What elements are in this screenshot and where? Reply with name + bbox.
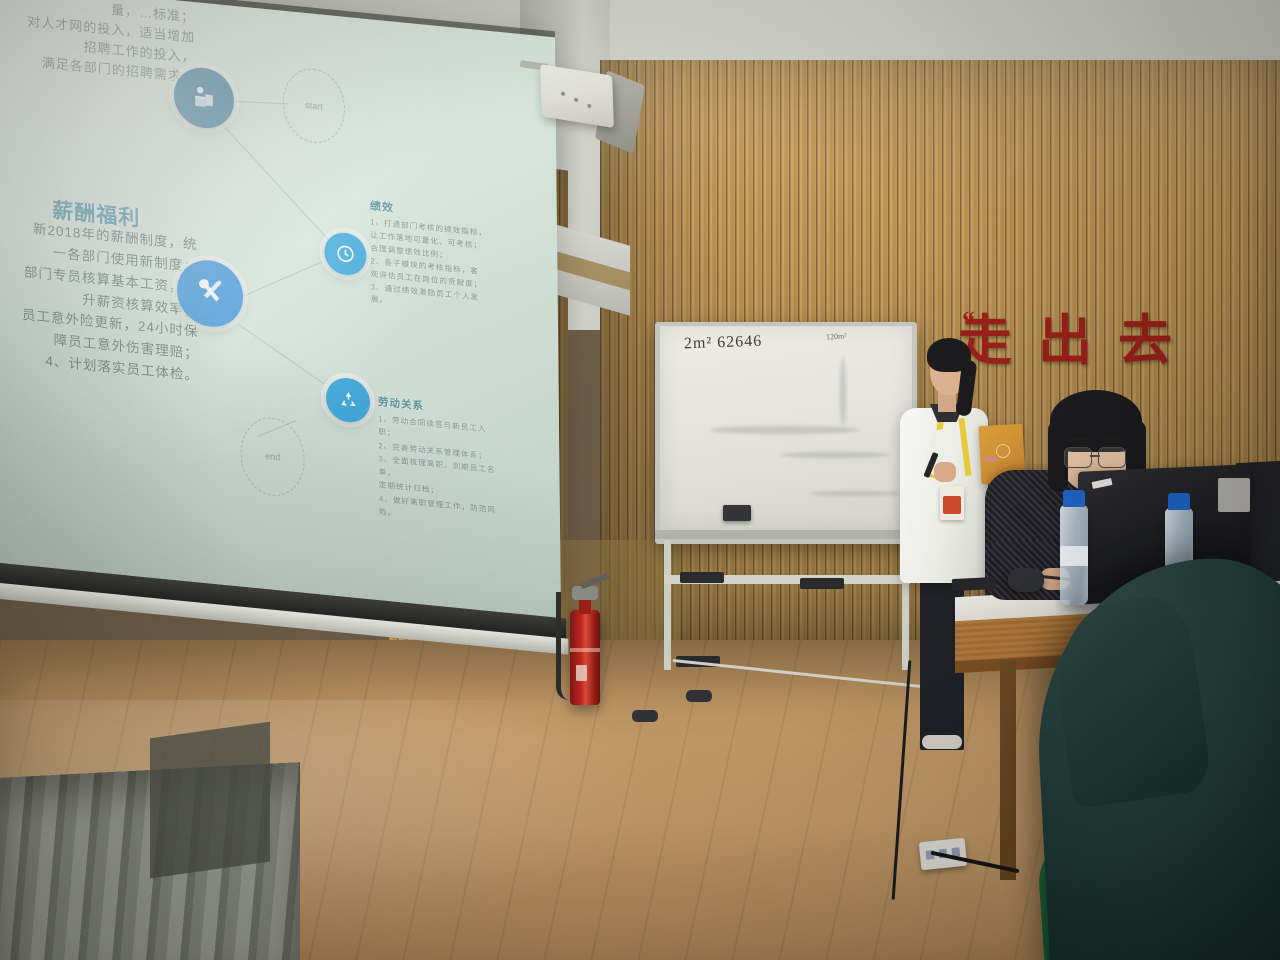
eyeglasses-bridge: [1090, 455, 1100, 457]
presenter-bracelet: [984, 456, 998, 462]
speaker-dot: [561, 91, 565, 96]
extinguisher-band: [570, 648, 600, 652]
presenter-neck: [938, 392, 956, 412]
extinguisher-hose: [556, 592, 569, 700]
water-bottle-cap: [1063, 490, 1085, 507]
connector-tools-perf: [241, 261, 322, 297]
speaker-dot: [574, 98, 578, 103]
slide-labor-relations-body: 1、劳动合同续签与新员工入职； 2、完善劳动关系管理体系； 3、全面梳理离职、到…: [378, 412, 497, 530]
end-label: end: [265, 451, 280, 462]
projection-screen: 量，…标准； 对人才网的投入，适当增加 招聘工作的投入， 满足各部门的招聘需求。…: [0, 0, 561, 618]
id-badge-photo: [943, 496, 961, 514]
eyeglasses-lens-right: [1098, 447, 1126, 468]
whiteboard-text-main: 2m² 62646: [684, 333, 763, 354]
whiteboard-text-corner: 120m²: [826, 331, 847, 341]
slide-heading-labor-relations: 劳动关系: [378, 394, 424, 414]
slide-top-paragraph: 量，…标准； 对人才网的投入，适当增加 招聘工作的投入， 满足各部门的招聘需求。: [0, 0, 196, 89]
stand-foot: [686, 690, 712, 702]
whiteboard-smudge: [710, 426, 860, 434]
stand-clamp: [800, 578, 844, 589]
slide-compensation-paragraph: 新2018年的薪酬制度，统 一各部门使用新制度； 部门专员核算基本工资，提 升薪…: [0, 210, 199, 388]
slide-performance-body: 1、打通部门考核的绩效指标， 让工作落地可量化、可考核； 合理调整绩效比例； 2…: [370, 216, 489, 318]
fire-extinguisher: [570, 610, 600, 705]
whiteboard-stand-left: [664, 540, 671, 670]
presenter-shoes: [922, 735, 962, 749]
whiteboard-tray: [655, 530, 917, 539]
whiteboard-smudge: [810, 491, 900, 496]
start-node-placeholder: start: [283, 66, 346, 146]
table-leg: [1000, 660, 1016, 880]
presenter-hand: [934, 462, 956, 482]
connector-train-start: [233, 101, 288, 105]
whiteboard: [660, 326, 912, 534]
stand-foot: [632, 710, 658, 722]
speaker-dot: [587, 104, 591, 109]
laptop-sticker: [1218, 478, 1250, 512]
wall-calligraphy: 走出去: [958, 296, 1268, 368]
recycle-icon: [326, 376, 370, 424]
clock-icon: [324, 231, 366, 277]
water-bottle-label: [1060, 546, 1088, 566]
whiteboard-smudge: [780, 452, 890, 458]
slide-content: 量，…标准； 对人才网的投入，适当增加 招聘工作的投入， 满足各部门的招聘需求。…: [0, 0, 561, 618]
start-label: start: [305, 100, 323, 112]
whiteboard-eraser: [723, 505, 751, 521]
training-icon: [174, 65, 235, 131]
end-node-placeholder: end: [240, 415, 305, 499]
projection-screen-assembly: 量，…标准； 对人才网的投入，适当增加 招聘工作的投入， 满足各部门的招聘需求。…: [0, 0, 577, 680]
extinguisher-label: [576, 665, 587, 681]
slide-heading-performance: 绩效: [370, 197, 394, 215]
computer-mouse[interactable]: [1008, 568, 1044, 592]
water-bottle-cap: [1168, 493, 1190, 510]
meeting-room-photo: 量，…标准； 对人才网的投入，适当增加 招聘工作的投入， 满足各部门的招聘需求。…: [0, 0, 1280, 960]
curtain-shadow: [150, 722, 270, 879]
connector-tools-recycle: [239, 325, 324, 385]
whiteboard-smudge: [840, 356, 846, 426]
eyeglasses-lens-left: [1064, 447, 1092, 468]
mobile-phone[interactable]: [952, 577, 997, 591]
stand-clamp: [680, 572, 724, 583]
